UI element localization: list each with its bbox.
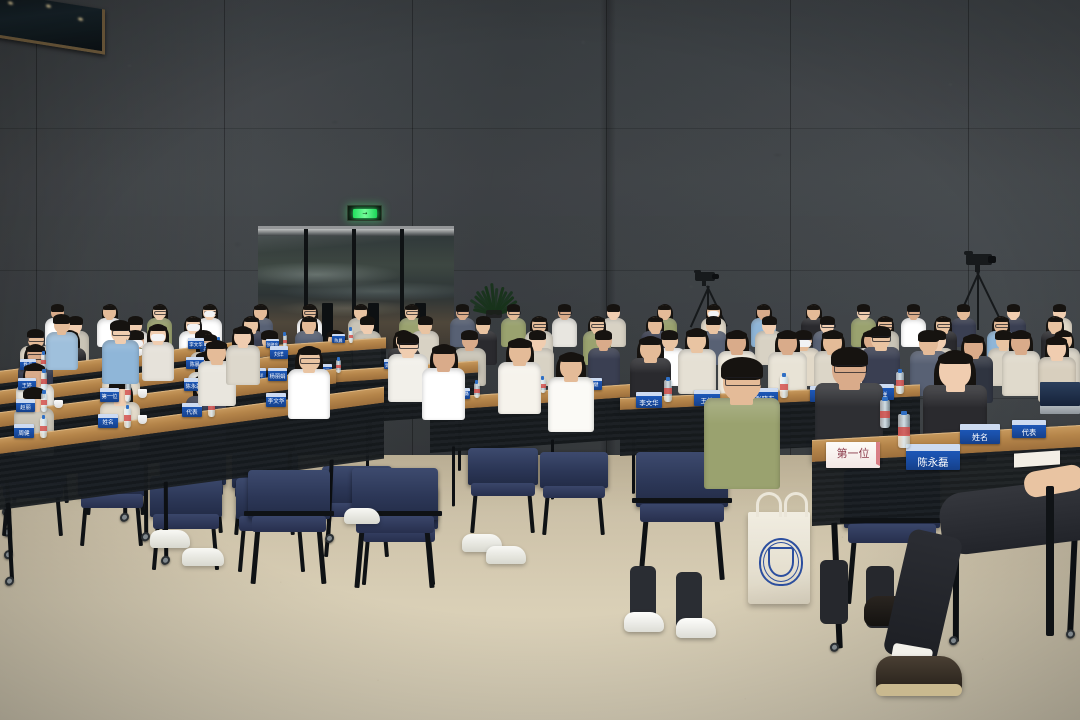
- shoe-sole: [876, 684, 962, 696]
- foreground-person-right: [0, 0, 1080, 720]
- foreground-person-chair-frame: [1046, 486, 1054, 636]
- conference-hall-photo: → 姓名代表李文华王婷张晓东陈晨刘洋赵丽第一位陈永磊杨丽娟周健姓名代表李文华王婷…: [0, 0, 1080, 720]
